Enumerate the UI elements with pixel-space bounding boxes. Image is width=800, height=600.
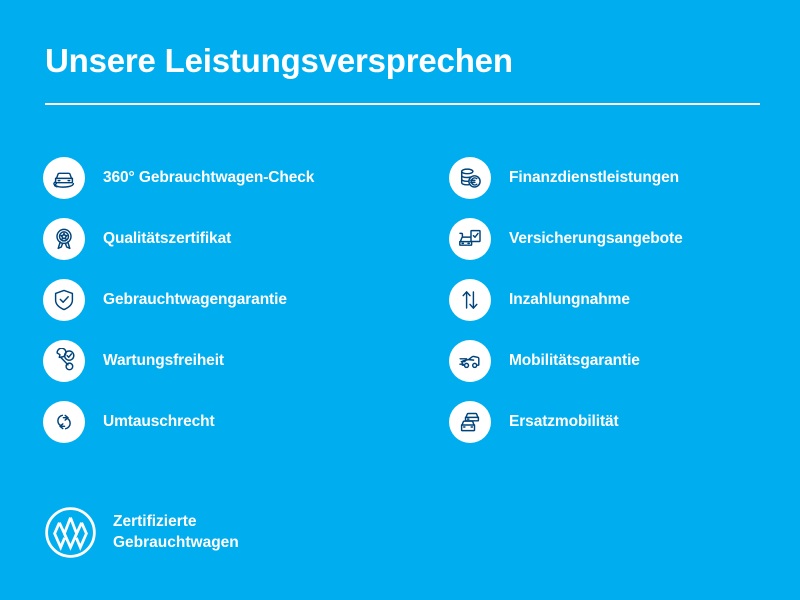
shield-check-icon: [43, 279, 85, 321]
exchange-arrows-icon: [43, 401, 85, 443]
benefit-label: Umtauschrecht: [103, 413, 215, 431]
car-motion-icon: [449, 340, 491, 382]
benefit-label: Wartungsfreiheit: [103, 352, 224, 370]
slide-root: Unsere Leistungsversprechen 360° Gebrauc…: [0, 0, 800, 600]
benefit-item-mobility-guarantee[interactable]: Mobilitätsgarantie: [449, 340, 789, 382]
brand-lockup: Zertifizierte Gebrauchtwagen: [44, 506, 239, 559]
benefit-label: Ersatzmobilität: [509, 413, 619, 431]
benefit-item-maintenance-free[interactable]: Wartungsfreiheit: [43, 340, 443, 382]
benefit-label: Finanzdienstleistungen: [509, 169, 679, 187]
award-rosette-icon: [43, 218, 85, 260]
benefit-item-exchange-right[interactable]: Umtauschrecht: [43, 401, 443, 443]
benefit-label: Inzahlungnahme: [509, 291, 630, 309]
benefit-item-insurance-offers[interactable]: Versicherungsangebote: [449, 218, 789, 260]
brand-line-2: Gebrauchtwagen: [113, 533, 239, 553]
brand-text: Zertifizierte Gebrauchtwagen: [113, 512, 239, 553]
volkswagen-logo-icon: [44, 506, 97, 559]
benefit-item-replacement-mobility[interactable]: Ersatzmobilität: [449, 401, 789, 443]
benefits-column-left: 360° Gebrauchtwagen-Check Qualitätszerti…: [43, 157, 443, 462]
arrows-up-down-icon: [449, 279, 491, 321]
benefit-label: Qualitätszertifikat: [103, 230, 231, 248]
car-360-check-icon: [43, 157, 85, 199]
benefit-item-quality-certificate[interactable]: Qualitätszertifikat: [43, 218, 443, 260]
benefit-item-trade-in[interactable]: Inzahlungnahme: [449, 279, 789, 321]
two-cars-icon: [449, 401, 491, 443]
benefit-label: Mobilitätsgarantie: [509, 352, 640, 370]
title-divider: [45, 103, 760, 105]
brand-line-1: Zertifizierte: [113, 512, 239, 532]
benefit-item-360-check[interactable]: 360° Gebrauchtwagen-Check: [43, 157, 443, 199]
car-clipboard-icon: [449, 218, 491, 260]
coins-euro-icon: [449, 157, 491, 199]
page-title: Unsere Leistungsversprechen: [45, 42, 513, 80]
benefits-column-right: Finanzdienstleistungen Versicherungsange…: [449, 157, 789, 462]
benefit-label: Versicherungsangebote: [509, 230, 683, 248]
benefit-item-warranty[interactable]: Gebrauchtwagengarantie: [43, 279, 443, 321]
benefit-label: 360° Gebrauchtwagen-Check: [103, 169, 314, 187]
wrench-check-icon: [43, 340, 85, 382]
benefit-label: Gebrauchtwagengarantie: [103, 291, 287, 309]
benefit-item-financial-services[interactable]: Finanzdienstleistungen: [449, 157, 789, 199]
